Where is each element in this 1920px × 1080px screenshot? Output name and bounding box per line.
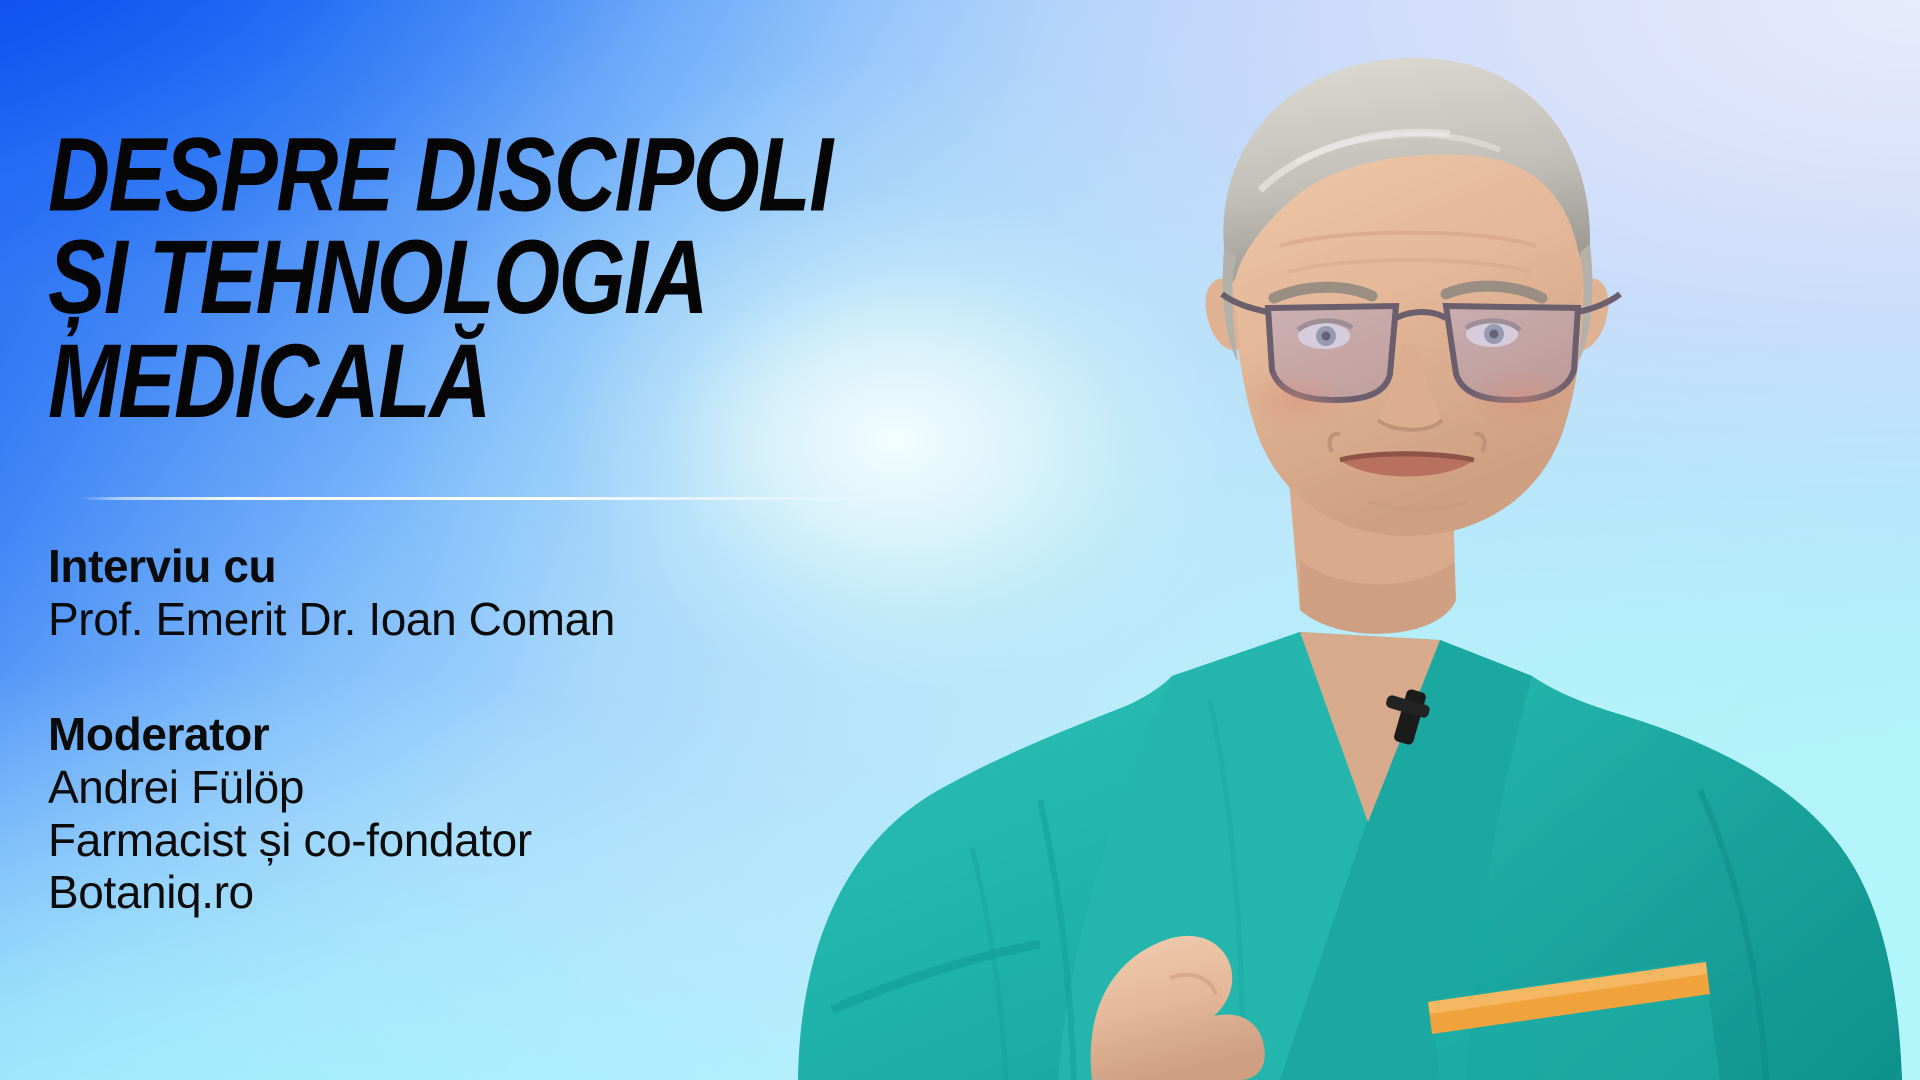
divider [80, 497, 880, 500]
moderator-name: Andrei Fülöp [48, 761, 948, 814]
interview-label: Interviu cu [48, 540, 948, 593]
moderator-label: Moderator [48, 708, 948, 761]
credits-spacer [48, 646, 948, 708]
guest-name: Prof. Emerit Dr. Ioan Coman [48, 593, 948, 646]
credits-block: Interviu cu Prof. Emerit Dr. Ioan Coman … [48, 540, 948, 919]
moderator-role: Farmacist și co-fondator [48, 814, 948, 867]
title-card: DESPRE DISCIPOLI ȘI TEHNOLOGIA MEDICALĂ … [0, 0, 1920, 1080]
moderator-site: Botaniq.ro [48, 866, 948, 919]
text-content: DESPRE DISCIPOLI ȘI TEHNOLOGIA MEDICALĂ … [48, 0, 1028, 1080]
page-title: DESPRE DISCIPOLI ȘI TEHNOLOGIA MEDICALĂ [48, 124, 1028, 432]
